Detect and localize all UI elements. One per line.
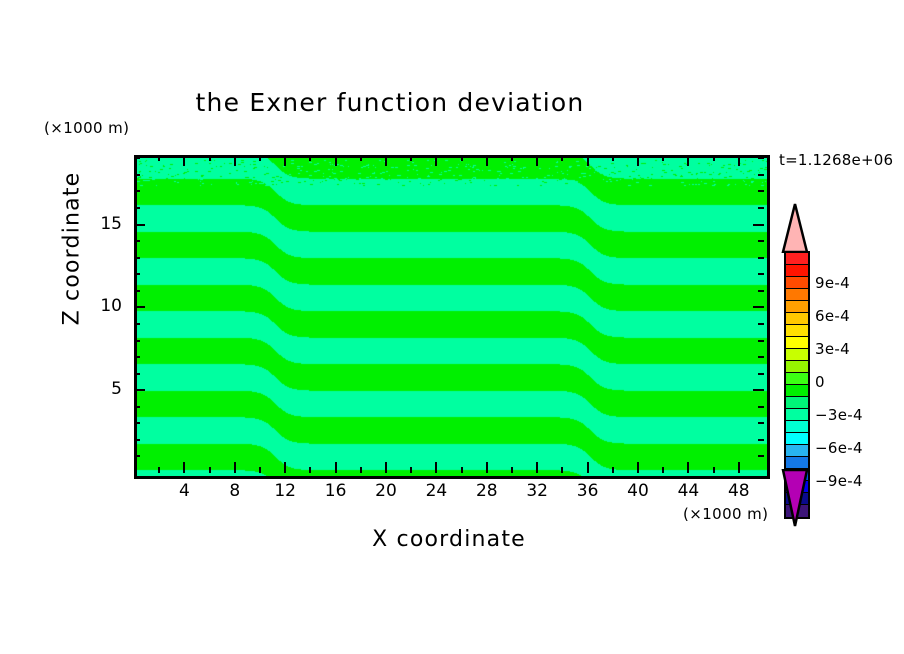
x-tick-label: 28: [465, 481, 509, 501]
x-major-tick: [536, 155, 538, 166]
x-minor-tick: [461, 155, 463, 161]
x-minor-tick: [511, 467, 513, 473]
x-minor-tick: [158, 467, 160, 473]
x-minor-tick: [612, 467, 614, 473]
y-minor-tick: [758, 323, 764, 325]
x-minor-tick: [209, 155, 211, 161]
colorbar-band: [786, 421, 808, 433]
x-minor-tick: [410, 467, 412, 473]
x-major-tick: [335, 462, 337, 473]
y-major-tick: [753, 224, 764, 226]
x-minor-tick: [561, 155, 563, 161]
x-major-tick: [284, 155, 286, 166]
y-minor-tick: [134, 439, 140, 441]
x-minor-tick: [713, 155, 715, 161]
colorbar-band: [786, 373, 808, 385]
y-minor-tick: [758, 190, 764, 192]
y-minor-tick: [758, 422, 764, 424]
y-minor-tick: [758, 207, 764, 209]
y-major-tick: [753, 306, 764, 308]
y-minor-tick: [134, 207, 140, 209]
x-minor-tick: [662, 467, 664, 473]
x-minor-tick: [360, 155, 362, 161]
y-minor-tick: [134, 422, 140, 424]
colorbar-tick-label: 6e-4: [815, 307, 850, 325]
y-minor-tick: [134, 373, 140, 375]
colorbar-band: [786, 397, 808, 409]
page-title: the Exner function deviation: [0, 88, 780, 117]
y-minor-tick: [758, 174, 764, 176]
x-tick-label: 16: [314, 481, 358, 501]
y-minor-tick: [134, 406, 140, 408]
contour-field-canvas: [137, 158, 767, 476]
y-minor-tick: [134, 257, 140, 259]
x-minor-tick: [360, 467, 362, 473]
colorbar-band: [786, 385, 808, 397]
colorbar-band: [786, 433, 808, 445]
colorbar-band: [786, 361, 808, 373]
colorbar-band: [786, 445, 808, 457]
y-major-tick: [134, 306, 145, 308]
x-major-tick: [587, 462, 589, 473]
y-tick-label: 5: [82, 379, 122, 399]
y-minor-tick: [758, 257, 764, 259]
colorbar-over-arrow-icon: [781, 203, 809, 253]
x-major-tick: [486, 155, 488, 166]
y-tick-label: 10: [82, 296, 122, 316]
x-minor-tick: [662, 155, 664, 161]
x-major-tick: [385, 462, 387, 473]
x-tick-label: 20: [364, 481, 408, 501]
x-minor-tick: [158, 155, 160, 161]
time-annotation: t=1.1268e+06: [779, 151, 893, 169]
colorbar-band: [786, 457, 808, 469]
x-tick-label: 36: [566, 481, 610, 501]
y-minor-tick: [134, 340, 140, 342]
y-minor-tick: [758, 356, 764, 358]
x-minor-tick: [309, 467, 311, 473]
colorbar-band: [786, 253, 808, 265]
x-minor-tick: [309, 155, 311, 161]
y-minor-tick: [134, 356, 140, 358]
x-axis-title: X coordinate: [134, 527, 764, 552]
colorbar-band: [786, 313, 808, 325]
x-tick-label: 48: [717, 481, 761, 501]
x-minor-tick: [461, 467, 463, 473]
y-minor-tick: [758, 439, 764, 441]
y-minor-tick: [758, 273, 764, 275]
x-axis-unit-label: (×1000 m): [683, 505, 768, 523]
x-tick-label: 4: [162, 481, 206, 501]
x-minor-tick: [259, 467, 261, 473]
x-major-tick: [435, 462, 437, 473]
colorbar-tick-label: −9e-4: [815, 472, 863, 490]
colorbar-under-arrow-icon: [781, 469, 809, 527]
y-minor-tick: [758, 373, 764, 375]
x-major-tick: [637, 462, 639, 473]
x-minor-tick: [209, 467, 211, 473]
x-tick-label: 44: [666, 481, 710, 501]
y-axis-unit-label: (×1000 m): [44, 119, 129, 137]
x-major-tick: [637, 155, 639, 166]
colorbar-tick-label: 0: [815, 373, 825, 391]
colorbar-band: [786, 301, 808, 313]
y-minor-tick: [134, 323, 140, 325]
x-minor-tick: [561, 467, 563, 473]
x-minor-tick: [259, 155, 261, 161]
x-tick-label: 12: [263, 481, 307, 501]
x-major-tick: [687, 155, 689, 166]
y-minor-tick: [134, 290, 140, 292]
y-minor-tick: [758, 340, 764, 342]
y-minor-tick: [134, 190, 140, 192]
y-minor-tick: [758, 290, 764, 292]
x-tick-label: 8: [213, 481, 257, 501]
x-major-tick: [486, 462, 488, 473]
colorbar-band: [786, 277, 808, 289]
colorbar-tick-label: 3e-4: [815, 340, 850, 358]
x-major-tick: [234, 462, 236, 473]
y-major-tick: [134, 389, 145, 391]
x-major-tick: [234, 155, 236, 166]
y-minor-tick: [134, 455, 140, 457]
x-minor-tick: [410, 155, 412, 161]
x-major-tick: [687, 462, 689, 473]
x-major-tick: [385, 155, 387, 166]
x-minor-tick: [612, 155, 614, 161]
x-major-tick: [335, 155, 337, 166]
x-major-tick: [183, 155, 185, 166]
x-tick-label: 32: [515, 481, 559, 501]
y-minor-tick: [134, 157, 140, 159]
x-major-tick: [435, 155, 437, 166]
x-major-tick: [536, 462, 538, 473]
y-minor-tick: [134, 240, 140, 242]
colorbar-band: [786, 337, 808, 349]
y-axis-title: Z coordinate: [60, 149, 85, 349]
y-minor-tick: [758, 406, 764, 408]
colorbar-band: [786, 325, 808, 337]
x-major-tick: [183, 462, 185, 473]
y-minor-tick: [134, 273, 140, 275]
plot-area: [134, 155, 770, 479]
colorbar-tick-label: −3e-4: [815, 406, 863, 424]
colorbar-band: [786, 289, 808, 301]
x-minor-tick: [713, 467, 715, 473]
x-minor-tick: [511, 155, 513, 161]
y-minor-tick: [758, 240, 764, 242]
y-tick-label: 15: [82, 214, 122, 234]
y-minor-tick: [758, 157, 764, 159]
x-major-tick: [587, 155, 589, 166]
colorbar-tick-label: 9e-4: [815, 274, 850, 292]
y-major-tick: [134, 224, 145, 226]
x-tick-label: 40: [616, 481, 660, 501]
colorbar-tick-label: −6e-4: [815, 439, 863, 457]
x-major-tick: [738, 155, 740, 166]
y-minor-tick: [758, 455, 764, 457]
colorbar-band: [786, 265, 808, 277]
x-tick-label: 24: [414, 481, 458, 501]
x-major-tick: [284, 462, 286, 473]
colorbar-band: [786, 409, 808, 421]
x-major-tick: [738, 462, 740, 473]
colorbar-band: [786, 349, 808, 361]
y-major-tick: [753, 389, 764, 391]
y-minor-tick: [134, 174, 140, 176]
